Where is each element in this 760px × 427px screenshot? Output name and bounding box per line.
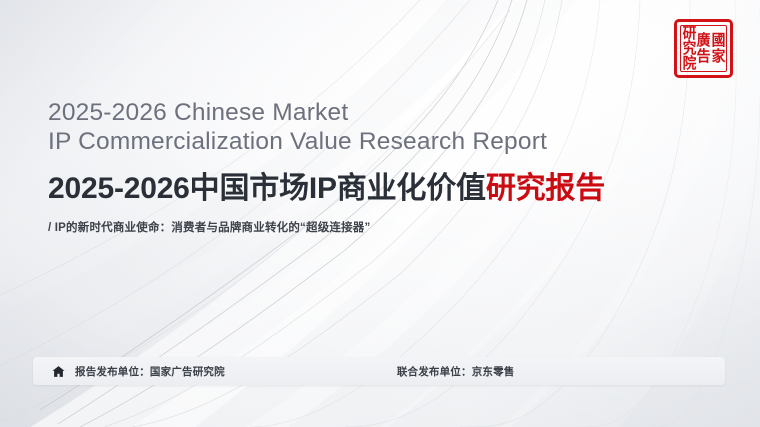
co-publisher-info: 联合发布单位：京东零售 [397, 364, 515, 379]
publisher-label: 报告发布单位：国家广告研究院 [75, 364, 225, 379]
seal-char: 家 [711, 49, 724, 64]
chinese-title-accent: 研究报告 [486, 172, 605, 205]
subtitle: / IP的新时代商业使命：消费者与品牌商业转化的“超级连接器” [48, 219, 708, 235]
seal-column-2: 廣 告 [696, 33, 711, 64]
title-block: 2025-2026 Chinese Market IP Commercializ… [48, 98, 708, 235]
seal-char: 院 [682, 56, 695, 71]
co-publisher-label: 联合发布单位：京东零售 [397, 364, 515, 379]
report-cover-slide: 國 家 廣 告 研 究 院 2025-2026 Chinese Market I… [0, 0, 760, 427]
chinese-title: 2025-2026中国市场IP商业化价值研究报告 [48, 172, 708, 206]
seal-column-3: 研 究 院 [682, 26, 697, 72]
english-title-line-1: 2025-2026 Chinese Market [48, 98, 708, 127]
publisher-info: 报告发布单位：国家广告研究院 [52, 364, 225, 379]
chinese-title-main: 2025-2026中国市场IP商业化价值 [48, 172, 486, 205]
seal-column-1: 國 家 [711, 33, 726, 64]
seal-char: 告 [697, 49, 710, 64]
home-icon [52, 365, 65, 378]
official-seal-stamp: 國 家 廣 告 研 究 院 [674, 19, 733, 78]
footer-bar: 报告发布单位：国家广告研究院 联合发布单位：京东零售 [33, 357, 725, 385]
english-title-line-2: IP Commercialization Value Research Repo… [48, 127, 708, 156]
seal-inner-frame: 國 家 廣 告 研 究 院 [680, 25, 727, 72]
